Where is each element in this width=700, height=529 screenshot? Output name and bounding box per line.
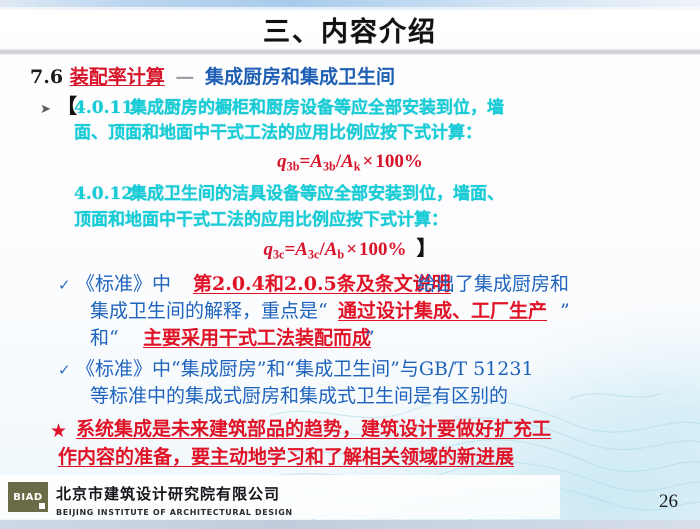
note-2-text-line2: 等标准中的集成式厨房和集成式卫生间是有区别的 — [90, 384, 508, 409]
note-3-line2: 作内容的准备，要主动地学习和了解相关领域的新进展 — [0, 446, 700, 474]
close-bracket: 】 — [407, 238, 437, 260]
note-1-seg1: 《标准》中 — [76, 272, 171, 297]
formula-q3b-eq: = — [299, 151, 310, 172]
note-1-line2-red: 通过设计集成、工厂生产 — [338, 299, 547, 324]
biad-logo: BIAD — [8, 482, 48, 512]
note-1-line3-red: 主要采用干式工法装配而成 — [143, 326, 371, 351]
formula-q3c-eq: = — [284, 239, 295, 260]
slide-canvas: 三、内容介绍 7.6 装配率计算 — 集成厨房和集成卫生间 ➤ 【 4.0.11… — [0, 0, 700, 529]
clause-412-text-line2: 顶面和地面中干式工法的应用比例应按下式计算： — [74, 208, 448, 233]
formula-q3b: q3b=A3b/Ak×100% — [0, 148, 700, 180]
section-heading: 7.6 装配率计算 — 集成厨房和集成卫生间 — [30, 62, 395, 89]
page-number: 26 — [659, 491, 678, 513]
check-bullet-icon: ✓ — [58, 273, 71, 298]
note-3-text-line1: 系统集成是未来建筑部品的趋势，建筑设计要做好扩充工 — [76, 417, 551, 442]
note-2-text-line1: 《标准》中“集成厨房”和“集成卫生间”与GB/T 51231 — [76, 357, 534, 382]
formula-q3b-lhs-sub: 3b — [287, 159, 300, 173]
section-blue-term: 集成厨房和集成卫生间 — [205, 66, 395, 88]
top-accent-band — [0, 0, 700, 7]
star-bullet-icon: ★ — [50, 419, 67, 444]
check-bullet-icon-2: ✓ — [58, 358, 71, 383]
biad-logo-text: BIAD — [13, 492, 42, 503]
note-1-line1: ✓ 《标准》中 第2.0.4和2.0.5条及条文说明 给出了集成厨房和 — [0, 273, 700, 300]
note-1-seg3: 给出了集成厨房和 — [417, 272, 569, 297]
formula-q3c-den: A — [325, 239, 338, 260]
formula-q3c: q3c=A3c/Ab×100%】 — [0, 235, 700, 268]
organization-name-cn: 北京市建筑设计研究院有限公司 — [56, 483, 280, 504]
formula-q3b-lhs: q — [277, 151, 287, 172]
clause-412-id: 4.0.12 — [74, 182, 133, 207]
slide-body: ➤ 【 4.0.11 集成厨房的橱柜和厨房设备等应全部安装到位，墙 面、顶面和地… — [0, 96, 700, 474]
clause-412-line1: 4.0.12 集成卫生间的洁具设备等应全部安装到位，墙面、 — [0, 182, 700, 208]
clause-411-id: 4.0.11 — [74, 96, 133, 121]
formula-q3c-num-sub: 3c — [308, 248, 319, 262]
note-1-line2: 集成卫生间的解释，重点是“ 通过设计集成、工厂生产 ” — [0, 300, 700, 327]
note-1-line3-b: ” — [365, 326, 375, 351]
formula-q3b-num: A — [310, 151, 323, 172]
note-3-line1: ★ 系统集成是未来建筑部品的趋势，建筑设计要做好扩充工 — [0, 418, 700, 446]
note-1-line3-a: 和“ — [90, 326, 119, 351]
clause-411-line2: 面、顶面和地面中干式工法的应用比例应按下式计算： — [0, 121, 700, 148]
note-1-line2-b: ” — [560, 299, 570, 324]
clause-411-text-line1: 集成厨房的橱柜和厨房设备等应全部安装到位，墙 — [130, 96, 504, 121]
formula-q3b-times: × — [361, 151, 376, 172]
note-3-text-line2: 作内容的准备，要主动地学习和了解相关领域的新进展 — [58, 445, 514, 470]
bottom-accent-strip — [0, 520, 700, 529]
formula-q3c-pct: 100% — [359, 239, 407, 260]
formula-q3c-lhs: q — [263, 239, 273, 260]
formula-q3b-pct: 100% — [375, 151, 423, 172]
arrow-bullet-icon: ➤ — [40, 97, 51, 122]
note-1-seg2-red: 第2.0.4和2.0.5条及条文说明 — [193, 272, 451, 297]
formula-q3c-lhs-sub: 3c — [273, 248, 284, 262]
clause-412-text-line1: 集成卫生间的洁具设备等应全部安装到位，墙面、 — [130, 182, 504, 207]
note-1-line3: 和“ 主要采用干式工法装配而成 ” — [0, 327, 700, 354]
formula-q3b-den: A — [341, 151, 354, 172]
note-2-line2: 等标准中的集成式厨房和集成式卫生间是有区别的 — [0, 385, 700, 412]
formula-q3b-num-sub: 3b — [323, 159, 336, 173]
section-dash: — — [171, 66, 198, 88]
section-red-term: 装配率计算 — [70, 66, 165, 88]
formula-q3b-den-sub: k — [354, 159, 361, 173]
note-2-line1: ✓ 《标准》中“集成厨房”和“集成卫生间”与GB/T 51231 — [0, 358, 700, 385]
clause-411-text-line2: 面、顶面和地面中干式工法的应用比例应按下式计算： — [74, 121, 482, 146]
organization-name-en: BEIJING INSTITUTE OF ARCHITECTURAL DESIG… — [56, 508, 293, 517]
slide-title: 三、内容介绍 — [0, 10, 700, 49]
section-number: 7.6 — [30, 66, 63, 88]
clause-411-line1: ➤ 【 4.0.11 集成厨房的橱柜和厨房设备等应全部安装到位，墙 — [0, 96, 700, 121]
clause-412-line2: 顶面和地面中干式工法的应用比例应按下式计算： — [0, 208, 700, 235]
note-1-line2-a: 集成卫生间的解释，重点是“ — [90, 299, 328, 324]
formula-q3c-times: × — [344, 239, 359, 260]
formula-q3c-num: A — [295, 239, 308, 260]
header-divider — [0, 48, 700, 55]
